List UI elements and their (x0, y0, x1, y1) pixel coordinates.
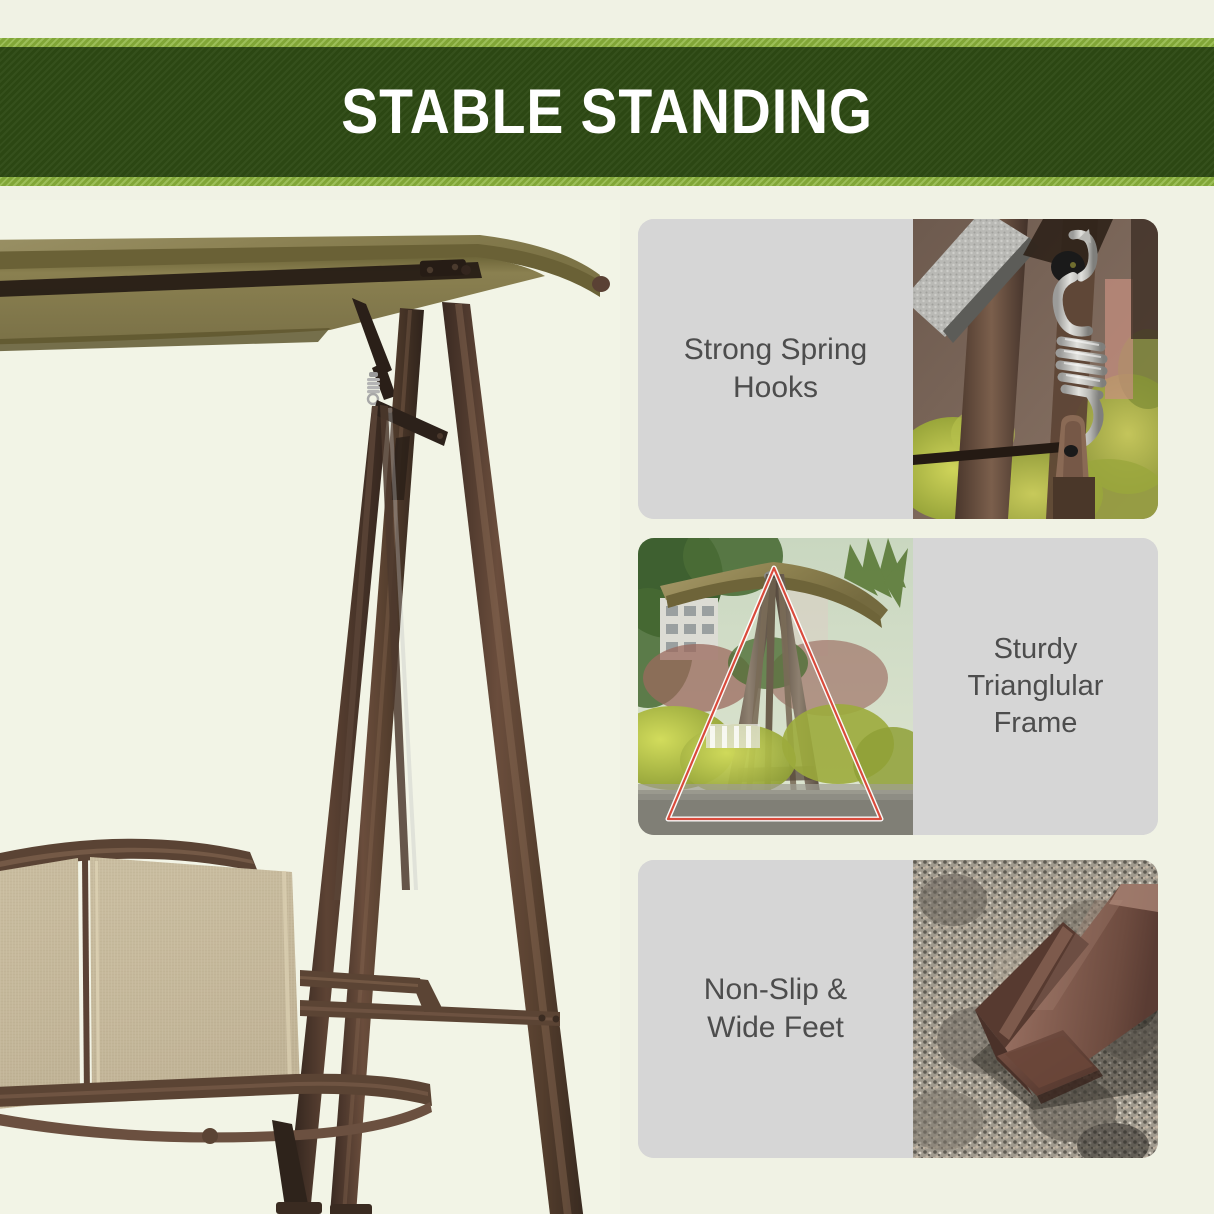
feature-label-line: Wide Feet (704, 1009, 847, 1047)
card-text-panel: Sturdy Trianglular Frame (913, 538, 1158, 835)
hero-product-photo (0, 200, 620, 1214)
feature-label-line: Strong Spring (684, 331, 867, 369)
feature-label: Non-Slip & Wide Feet (704, 971, 847, 1048)
feature-card-strong-spring-hooks[interactable]: Strong Spring Hooks (638, 219, 1158, 519)
feature-card-list: Strong Spring Hooks (638, 215, 1158, 1165)
feature-card-non-slip-wide-feet[interactable]: Non-Slip & Wide Feet (638, 860, 1158, 1158)
header-banner: STABLE STANDING (0, 38, 1214, 186)
page-title: STABLE STANDING (341, 81, 873, 144)
feature-label-line: Hooks (684, 369, 867, 407)
feature-label-line: Trianglular (968, 668, 1104, 705)
feature-photo-spring-hook (913, 219, 1158, 519)
feature-photo-wide-foot (913, 860, 1158, 1158)
feature-card-sturdy-triangular-frame[interactable]: Sturdy Trianglular Frame (638, 538, 1158, 835)
feature-label: Sturdy Trianglular Frame (968, 631, 1104, 742)
feature-label: Strong Spring Hooks (684, 331, 867, 408)
card-text-panel: Non-Slip & Wide Feet (638, 860, 913, 1158)
card-text-panel: Strong Spring Hooks (638, 219, 913, 519)
banner-stripe-bottom (0, 177, 1214, 186)
feature-label-line: Sturdy (968, 631, 1104, 668)
banner-stripe-top (0, 38, 1214, 47)
feature-label-line: Frame (968, 705, 1104, 742)
feature-label-line: Non-Slip & (704, 971, 847, 1009)
feature-photo-triangular-frame (638, 538, 913, 835)
